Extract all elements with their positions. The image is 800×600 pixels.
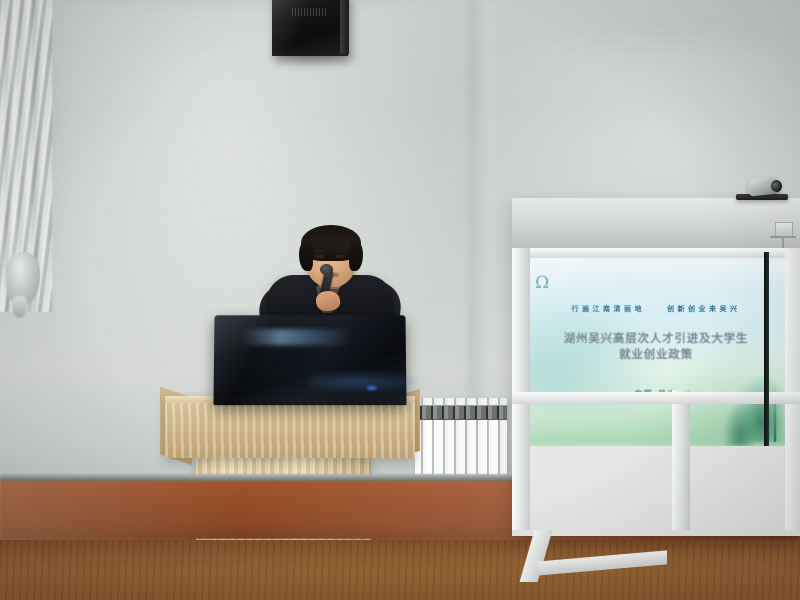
slide-title-line1: 湖州吴兴高层次人才引进及大学生: [528, 330, 784, 346]
curtain-tail: [12, 296, 27, 318]
laptop-reflection: [213, 315, 406, 405]
presenter-eye-right: [336, 255, 345, 258]
display-panel-divider: [764, 252, 769, 446]
stand-right-post: [785, 248, 800, 530]
display-screen[interactable]: Ω 行遍江南清丽地创新创业来吴兴 湖州吴兴高层次人才引进及大学生 就业创业政策 …: [517, 252, 795, 446]
presenter-hair-left: [299, 241, 313, 271]
stand-middle-rail: [512, 392, 800, 404]
slide-subtitle: 行遍江南清丽地创新创业来吴兴: [517, 304, 795, 314]
podium-desktop: [165, 396, 415, 458]
ceiling-speaker: [272, 0, 348, 56]
presenter-eye-left: [315, 255, 324, 258]
slide-logo-icon: Ω: [534, 273, 551, 293]
wall-mount-stem: [782, 236, 784, 248]
presentation-slide: Ω 行遍江南清丽地创新创业来吴兴 湖州吴兴高层次人才引进及大学生 就业创业政策 …: [517, 252, 795, 446]
slide-subtitle-right: 创新创业来吴兴: [667, 304, 741, 314]
slide-title: 湖州吴兴高层次人才引进及大学生 就业创业政策: [528, 330, 784, 362]
slide-subtitle-left: 行遍江南清丽地: [572, 304, 646, 314]
photo-scene: Ω 行遍江南清丽地创新创业来吴兴 湖州吴兴高层次人才引进及大学生 就业创业政策 …: [0, 0, 800, 600]
speaker-side-edge: [340, 0, 349, 55]
speaker-grille: [292, 8, 328, 16]
podium-desktop-grain: [165, 396, 415, 458]
slide-title-line2: 就业创业政策: [528, 346, 784, 362]
presenter-brow-left: [314, 250, 325, 252]
presenter-hair-right: [349, 241, 363, 271]
stand-left-post: [512, 248, 530, 530]
microphone-head: [320, 264, 333, 275]
display-stand-shelf: [512, 248, 800, 258]
presenter-brow-right: [335, 250, 346, 252]
laptop-status-led: [367, 386, 376, 390]
floor-grain-right: [0, 540, 800, 600]
wooden-floor-right: [0, 540, 800, 600]
display-top-bezel: [512, 198, 800, 252]
podium-laptop[interactable]: [213, 315, 406, 405]
radiator-header: [415, 405, 507, 420]
slide-foliage-secondary: [723, 403, 756, 446]
stand-middle-post: [672, 390, 690, 530]
